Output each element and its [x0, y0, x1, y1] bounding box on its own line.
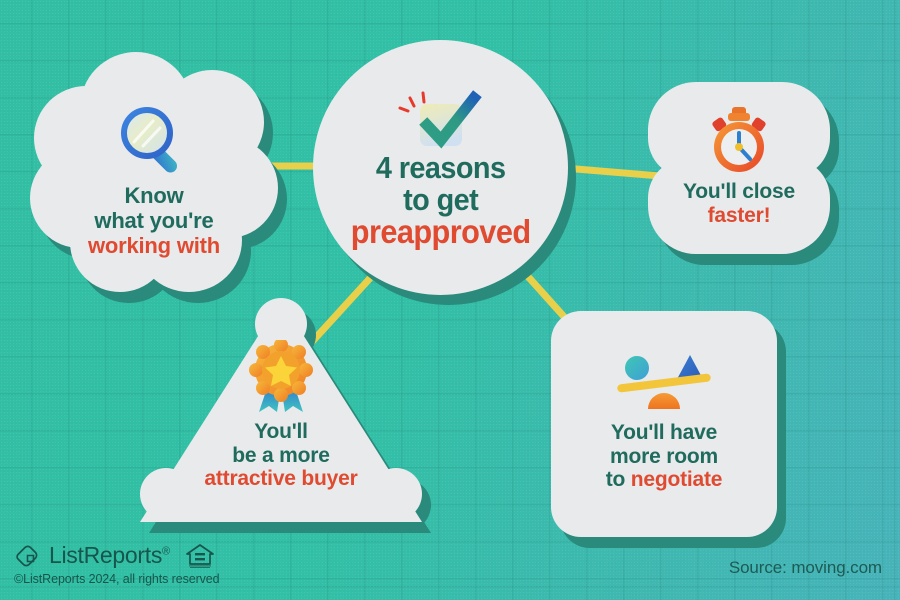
- equal-housing-opportunity-icon: [185, 542, 215, 569]
- magnifying-glass-icon: [117, 104, 191, 178]
- node-attractive-buyer[interactable]: You'll be a more attractive buyer: [140, 300, 422, 522]
- node-buyer-text: You'll be a more attractive buyer: [204, 420, 357, 491]
- award-ribbon-icon: [247, 340, 315, 414]
- buyer-line-2: be a more: [204, 444, 357, 468]
- stopwatch-icon: [703, 104, 775, 176]
- node-negotiate[interactable]: You'll have more room to negotiate: [551, 311, 777, 537]
- close-line-1: You'll close: [683, 180, 795, 204]
- negotiate-line-3-plain: to: [606, 468, 631, 491]
- center-headline: 4 reasons to get preapproved: [351, 152, 531, 249]
- headline-line-3: preapproved: [351, 215, 531, 249]
- node-negotiate-text: You'll have more room to negotiate: [606, 421, 723, 492]
- negotiate-line-3: to negotiate: [606, 468, 723, 492]
- node-know-text: Know what you're working with: [88, 184, 220, 259]
- negotiate-line-1: You'll have: [606, 421, 723, 445]
- know-line-3: working with: [88, 234, 220, 259]
- sparkle-lines: [400, 93, 424, 111]
- node-center-headline[interactable]: 4 reasons to get preapproved: [313, 40, 568, 295]
- brand-name: ListReports®: [49, 542, 170, 569]
- check-box-icon: [398, 90, 484, 152]
- node-close-faster[interactable]: You'll close faster!: [648, 82, 848, 254]
- know-line-2: what you're: [88, 209, 220, 234]
- brand-row: ListReports®: [14, 542, 220, 569]
- node-know-what-working-with[interactable]: Know what you're working with: [28, 52, 280, 292]
- listreports-house-pin-icon: [14, 543, 40, 569]
- balance-scale-icon: [615, 351, 713, 409]
- brand-name-text: ListReports: [49, 542, 162, 568]
- node-close-text: You'll close faster!: [683, 180, 795, 227]
- copyright-text: ©ListReports 2024, all rights reserved: [14, 572, 220, 586]
- know-line-1: Know: [88, 184, 220, 209]
- buyer-line-3: attractive buyer: [204, 467, 357, 491]
- close-line-2: faster!: [683, 204, 795, 228]
- source-attribution: Source: moving.com: [729, 558, 882, 578]
- negotiate-line-3-accent: negotiate: [631, 468, 723, 491]
- negotiate-line-2: more room: [606, 445, 723, 469]
- buyer-line-1: You'll: [204, 420, 357, 444]
- headline-line-1: 4 reasons: [351, 152, 531, 184]
- registered-mark: ®: [162, 545, 170, 557]
- footer-branding: ListReports® ©ListReports 2024, all righ…: [14, 542, 220, 586]
- headline-line-2: to get: [351, 184, 531, 216]
- infographic-stage: Know what you're working with: [0, 0, 900, 600]
